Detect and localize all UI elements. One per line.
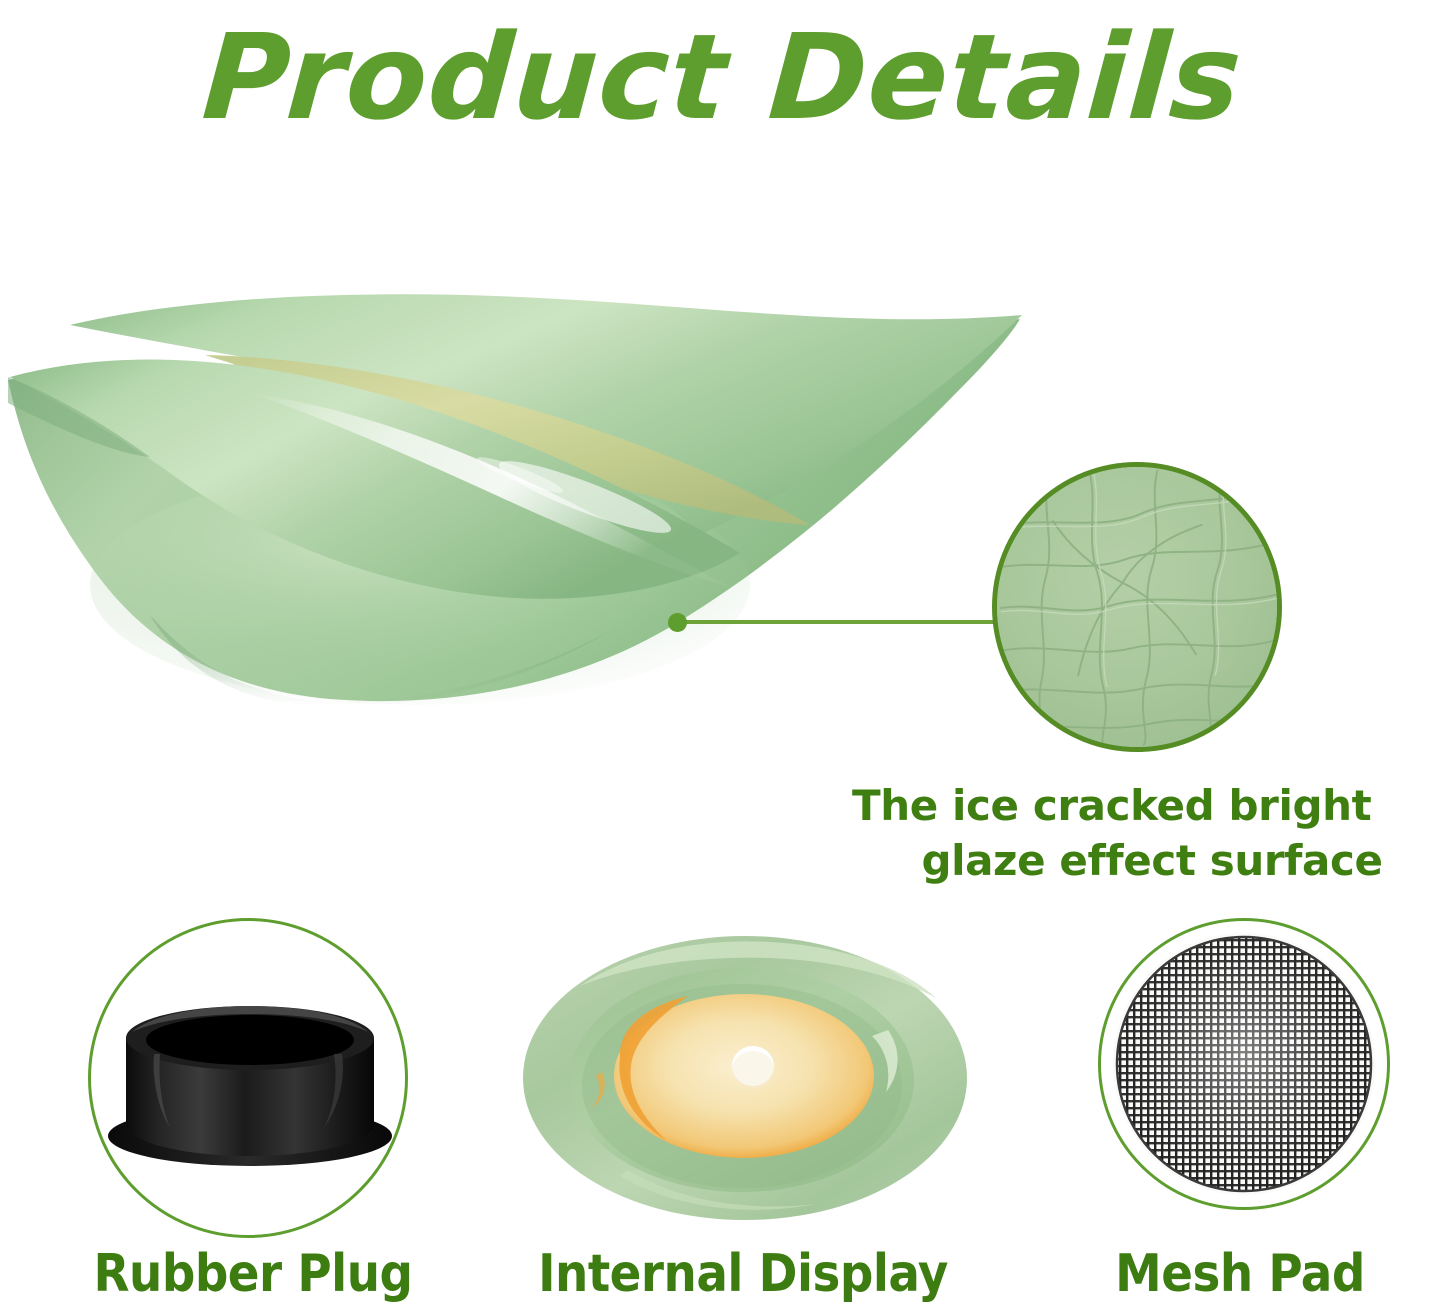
callout-marker-dot (668, 613, 687, 632)
panel-label-internal-display: Internal Display (508, 1244, 978, 1304)
mesh-pad-icon (1112, 932, 1376, 1196)
rubber-plug-icon (108, 996, 393, 1171)
bowl-interior-top-view-icon (520, 918, 970, 1238)
leader-line (683, 620, 1019, 624)
page-title: Product Details (0, 8, 1445, 147)
hero-product-image (0, 285, 1030, 705)
panel-label-rubber-plug: Rubber Plug (88, 1244, 418, 1304)
plug-bore (146, 1015, 354, 1065)
callout-caption: The ice cracked bright glaze effect surf… (852, 778, 1445, 889)
panel-label-mesh-pad: Mesh Pad (1090, 1244, 1390, 1304)
panel-internal-display (520, 918, 970, 1248)
panel-rubber-plug (88, 918, 418, 1248)
callout-caption-line1: The ice cracked bright (852, 778, 1445, 833)
crackle-glaze-swatch-icon (992, 462, 1282, 752)
panel-mesh-pad (1098, 918, 1398, 1248)
bowl-drain-hole-shade (732, 1051, 774, 1089)
callout-leader (668, 606, 1018, 636)
callout-caption-line2: glaze effect surface (852, 833, 1445, 888)
